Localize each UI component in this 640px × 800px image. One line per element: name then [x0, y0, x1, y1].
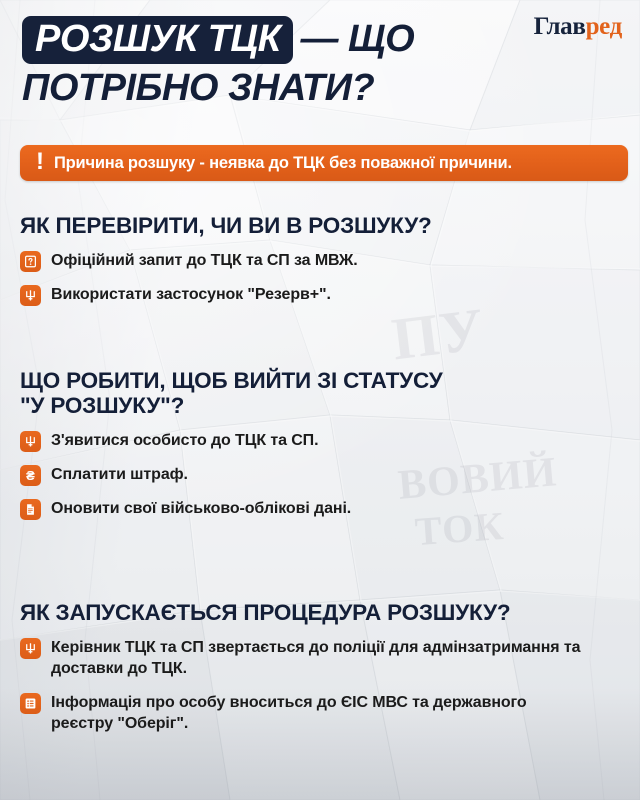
trident-icon: [20, 285, 41, 306]
title-line-2: ПОТРІБНО ЗНАТИ?: [22, 68, 522, 108]
trident-icon: [20, 431, 41, 452]
list-item: Керівник ТЦК та СП звертається до поліці…: [20, 637, 620, 680]
document-icon: [20, 499, 41, 520]
title-badge: РОЗШУК ТЦК: [22, 16, 293, 64]
section-heading: ЯК ЗАПУСКАЄТЬСЯ ПРОЦЕДУРА РОЗШУКУ?: [20, 600, 620, 625]
list-item-text: З'явитися особисто до ТЦК та СП.: [51, 430, 318, 451]
list-item-text: Сплатити штраф.: [51, 464, 188, 485]
logo-text-dark: Глав: [534, 13, 586, 40]
list-item-text: Оновити свої військово-облікові дані.: [51, 498, 351, 519]
logo-text-accent: ред: [586, 13, 622, 40]
list-item: Офіційний запит до ТЦК та СП за МВЖ.: [20, 250, 620, 272]
page-title: РОЗШУК ТЦК— ЩО ПОТРІБНО ЗНАТИ?: [22, 16, 522, 109]
trident-icon: [20, 638, 41, 659]
alert-banner: ! Причина розшуку - неявка до ТЦК без по…: [20, 145, 628, 181]
section-heading: ЩО РОБИТИ, ЩОБ ВИЙТИ ЗІ СТАТУСУ "У РОЗШУ…: [20, 368, 620, 418]
list-item: Інформація про особу вноситься до ЄІС МВ…: [20, 692, 620, 735]
list-item: Використати застосунок "Резерв+".: [20, 284, 620, 306]
section-heading-line: ЩО РОБИТИ, ЩОБ ВИЙТИ ЗІ СТАТУСУ: [20, 368, 620, 393]
section-list: Офіційний запит до ТЦК та СП за МВЖ.: [20, 250, 620, 306]
list-item-text: Використати застосунок "Резерв+".: [51, 284, 331, 305]
section-list: З'явитися особисто до ТЦК та СП. ₴ Сплат…: [20, 430, 620, 520]
section-how-procedure-starts: ЯК ЗАПУСКАЄТЬСЯ ПРОЦЕДУРА РОЗШУКУ?: [20, 600, 620, 734]
section-heading-line: ЯК ЗАПУСКАЄТЬСЯ ПРОЦЕДУРА РОЗШУКУ?: [20, 600, 620, 625]
list-item: ₴ Сплатити штраф.: [20, 464, 620, 486]
list-item: З'явитися особисто до ТЦК та СП.: [20, 430, 620, 452]
hryvnia-icon: ₴: [20, 465, 41, 486]
section-how-to-check: ЯК ПЕРЕВІРИТИ, ЧИ ВИ В РОЗШУКУ? Офіційни…: [20, 213, 620, 306]
title-line-1: РОЗШУК ТЦК— ЩО: [22, 16, 522, 64]
section-how-to-exit-status: ЩО РОБИТИ, ЩОБ ВИЙТИ ЗІ СТАТУСУ "У РОЗШУ…: [20, 368, 620, 520]
title-rest: — ЩО: [300, 19, 414, 59]
section-heading-line: "У РОЗШУКУ"?: [20, 393, 620, 418]
exclamation-icon: !: [36, 150, 44, 174]
alert-banner-text: Причина розшуку - неявка до ТЦК без пова…: [54, 154, 512, 172]
section-heading-line: ЯК ПЕРЕВІРИТИ, ЧИ ВИ В РОЗШУКУ?: [20, 213, 620, 238]
section-heading: ЯК ПЕРЕВІРИТИ, ЧИ ВИ В РОЗШУКУ?: [20, 213, 620, 238]
section-list: Керівник ТЦК та СП звертається до поліці…: [20, 637, 620, 734]
glavred-logo[interactable]: Главред: [534, 14, 622, 39]
list-item-text: Інформація про особу вноситься до ЄІС МВ…: [51, 692, 591, 735]
question-box-icon: [20, 251, 41, 272]
list-item-text: Офіційний запит до ТЦК та СП за МВЖ.: [51, 250, 358, 271]
hryvnia-glyph: ₴: [26, 469, 35, 482]
infographic-root: ПУ ВОВИЙ ТОК Главред РОЗШУК ТЦК— ЩО ПОТР…: [0, 0, 640, 800]
list-item-text: Керівник ТЦК та СП звертається до поліці…: [51, 637, 591, 680]
content-root: Главред РОЗШУК ТЦК— ЩО ПОТРІБНО ЗНАТИ? !…: [0, 0, 640, 800]
list-item: Оновити свої військово-облікові дані.: [20, 498, 620, 520]
registry-list-icon: [20, 693, 41, 714]
